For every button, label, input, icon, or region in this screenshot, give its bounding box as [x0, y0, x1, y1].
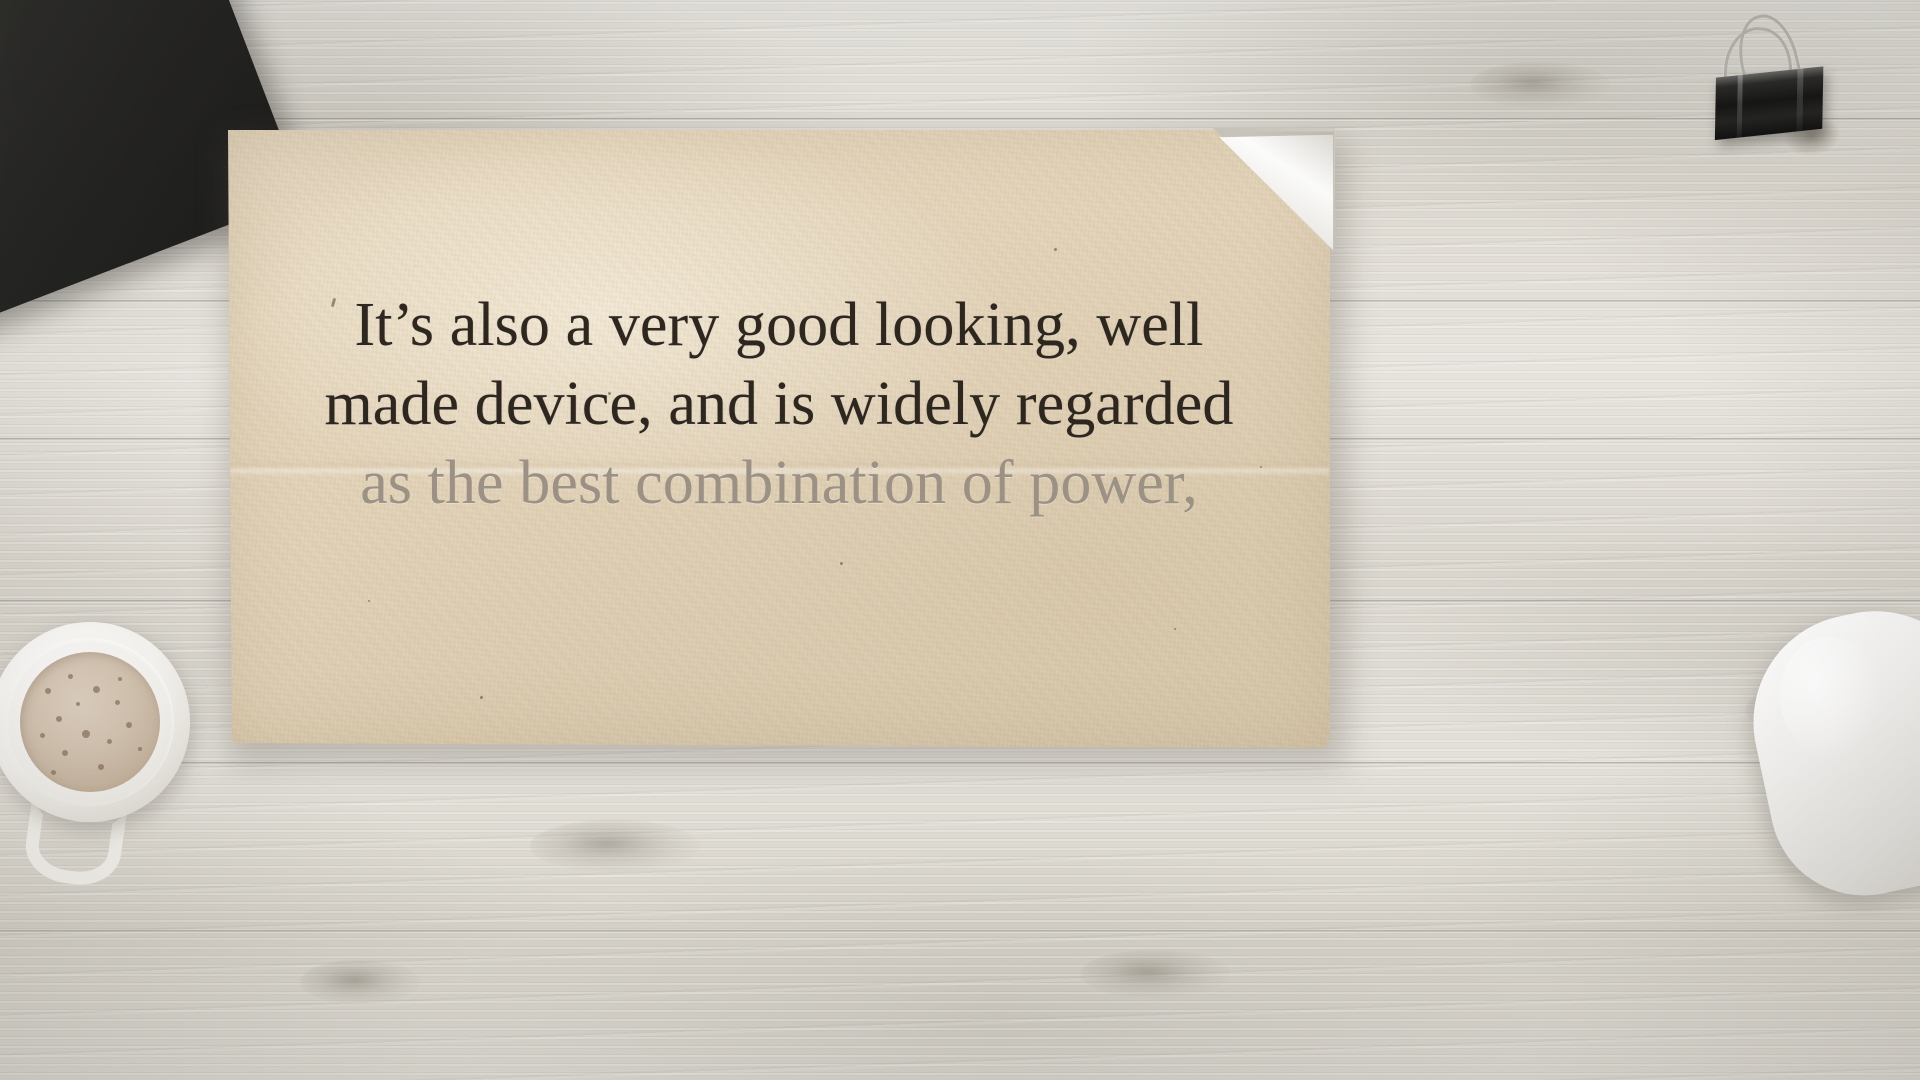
- paper-folded-corner[interactable]: [1205, 128, 1335, 260]
- quote-text-block: It’s also a very good looking, well made…: [248, 286, 1310, 523]
- quote-line-3: as the best combination of power,: [248, 444, 1310, 523]
- plank-seam: [0, 118, 1920, 121]
- quote-line-2: made device, and is widely regarded: [248, 365, 1310, 444]
- scene-stage: It’s also a very good looking, well made…: [0, 0, 1920, 1080]
- wood-knot: [1470, 62, 1610, 108]
- coffee-cup[interactable]: [0, 610, 200, 860]
- wood-knot: [530, 820, 700, 872]
- wood-knot: [1080, 950, 1230, 998]
- quote-line-1: It’s also a very good looking, well: [248, 286, 1310, 365]
- plank-seam: [0, 930, 1920, 933]
- binder-clip[interactable]: [1678, 0, 1863, 166]
- binder-clip-body: [1715, 66, 1823, 140]
- wood-knot: [300, 960, 420, 1004]
- coffee-crema: [20, 652, 160, 792]
- fold-edge-shading: [1214, 129, 1334, 253]
